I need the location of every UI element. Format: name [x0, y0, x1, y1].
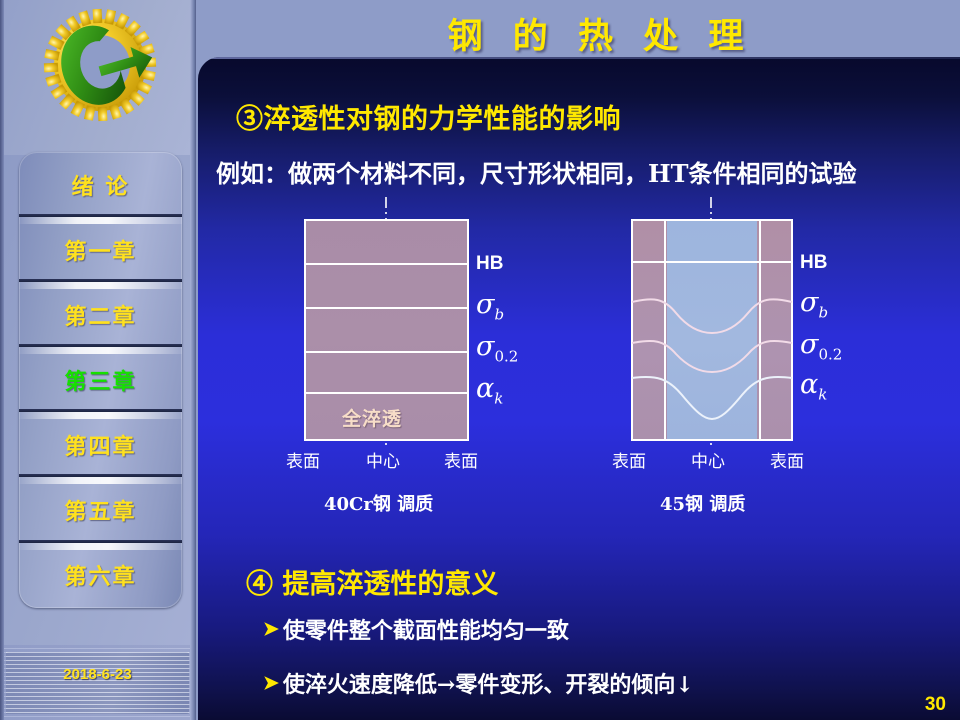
caption-40cr: 40Cr钢 调质: [324, 490, 433, 516]
sidebar-item-label: 第二章: [64, 299, 136, 331]
bullet-text: 使淬火速度降低→零件变形、开裂的倾向↓: [283, 667, 694, 699]
axis-label-center-45: 中心: [691, 447, 725, 472]
example-text: 例如：做两个材料不同，尺寸形状相同，HT条件相同的试验: [216, 154, 857, 189]
property-line-sb-40cr: [304, 307, 469, 309]
gear-g-logo-icon: [36, 4, 164, 126]
label-sigma-b-45: σb: [800, 287, 828, 321]
content-panel: ③淬透性对钢的力学性能的影响 例如：做两个材料不同，尺寸形状相同，HT条件相同的…: [198, 57, 960, 720]
bullet-item-1: ➤ 使零件整个截面性能均匀一致: [263, 613, 569, 645]
date-panel: 2018-6-23: [6, 652, 189, 714]
label-hb-45: HB: [800, 252, 827, 274]
axis-label-surface-right-45: 表面: [770, 447, 804, 472]
label-alpha-k-45: αk: [800, 369, 827, 403]
property-line-hb-40cr: [304, 263, 469, 265]
label-sigma-b-40cr: σb: [476, 289, 504, 323]
sidebar-item-chapter-4[interactable]: 第四章: [19, 412, 182, 477]
diagram-45: HB σb σ0.2 αk 表面 中心 表面 45钢 调质: [598, 197, 908, 507]
property-line-ak-40cr: [304, 392, 469, 394]
sidebar-item-label: 第三章: [64, 364, 136, 396]
date-panel-texture: [6, 652, 189, 714]
bullet-arrow-icon: ➤: [263, 674, 279, 693]
sidebar-item-label: 第一章: [64, 234, 136, 266]
property-curves-45: [598, 197, 908, 457]
slide-root: 绪 论 第一章 第二章 第三章 第四章 第五章 第六章 2018-6-23 钢 …: [0, 0, 960, 720]
axis-label-surface-left-45: 表面: [612, 447, 646, 472]
sidebar-item-chapter-3[interactable]: 第三章: [19, 347, 182, 412]
section-heading-4: ④ 提高淬透性的意义: [246, 562, 498, 601]
bullet-arrow-icon: ➤: [263, 620, 279, 639]
sidebar-item-label: 第六章: [64, 559, 136, 591]
axis-label-center-40cr: 中心: [366, 447, 400, 472]
sidebar-item-label: 第四章: [64, 429, 136, 461]
axis-label-surface-left-40cr: 表面: [286, 447, 320, 472]
property-line-s02-40cr: [304, 351, 469, 353]
label-sigma-02-45: σ0.2: [800, 329, 842, 363]
bullet-item-2: ➤ 使淬火速度降低→零件变形、开裂的倾向↓: [263, 667, 694, 699]
bullet-text: 使零件整个截面性能均匀一致: [283, 613, 569, 645]
page-number: 30: [925, 694, 946, 716]
sidebar-item-label: 绪 论: [72, 169, 130, 201]
caption-45: 45钢 调质: [660, 490, 745, 516]
sidebar-item-chapter-5[interactable]: 第五章: [19, 477, 182, 542]
sidebar-right-edge: [190, 0, 196, 720]
sidebar-item-label: 第五章: [64, 494, 136, 526]
label-sigma-02-40cr: σ0.2: [476, 331, 518, 365]
sidebar-left-edge: [0, 0, 4, 720]
axis-label-surface-right-40cr: 表面: [444, 447, 478, 472]
date-text: 2018-6-23: [6, 666, 189, 683]
page-title: 钢 的 热 处 理: [380, 8, 820, 59]
sidebar-item-chapter-6[interactable]: 第六章: [19, 543, 182, 608]
section-heading-3: ③淬透性对钢的力学性能的影响: [236, 97, 621, 136]
sidebar-item-chapter-2[interactable]: 第二章: [19, 282, 182, 347]
sidebar-menu: 绪 论 第一章 第二章 第三章 第四章 第五章 第六章: [19, 152, 182, 608]
diagram-40cr: 全淬透 HB σb σ0.2 αk 表面 中心 表面 40Cr钢 调质: [280, 197, 580, 507]
label-hb-40cr: HB: [476, 253, 503, 275]
label-alpha-k-40cr: αk: [476, 373, 503, 407]
panel-top-highlight: [198, 57, 960, 59]
sidebar-item-chapter-1[interactable]: 第一章: [19, 217, 182, 282]
fully-hardened-label: 全淬透: [342, 404, 402, 431]
sidebar-item-xulun[interactable]: 绪 论: [19, 152, 182, 217]
